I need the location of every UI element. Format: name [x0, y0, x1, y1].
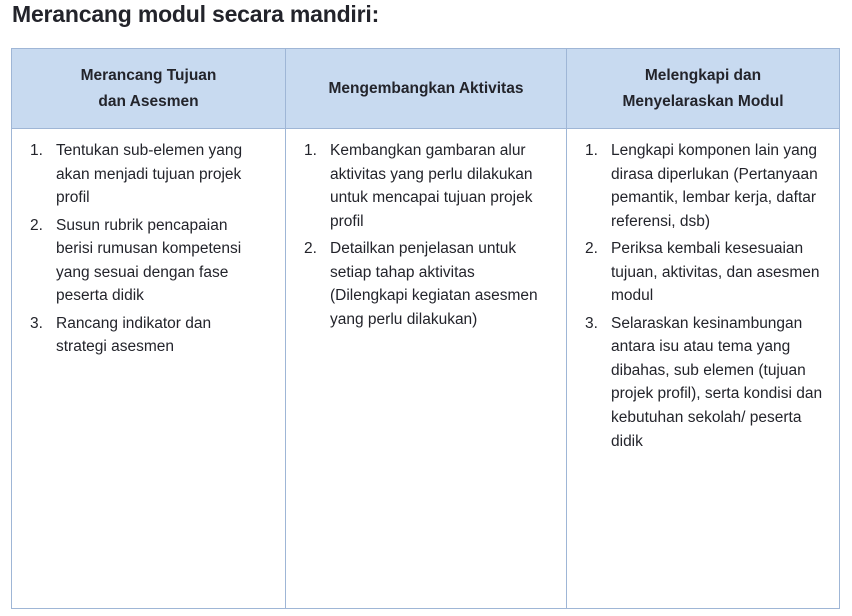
column-header-text: Mengembangkan Aktivitas — [329, 76, 524, 101]
column-header-line: Melengkapi dan — [645, 67, 761, 84]
table-body-row: 1. Tentukan sub-elemen yang akan menjadi… — [12, 129, 839, 608]
numbered-list: 1. Tentukan sub-elemen yang akan menjadi… — [20, 139, 277, 359]
list-item-number: 3. — [20, 312, 56, 336]
list-item-text: Susun rubrik pencapaian berisi rumusan k… — [56, 214, 261, 308]
list-item-text: Kembangkan gambaran alur aktivitas yang … — [330, 139, 542, 233]
list-item-number: 2. — [294, 237, 330, 261]
list-item: 3. Selaraskan kesinambungan antara isu a… — [575, 312, 831, 453]
list-item: 2. Periksa kembali kesesuaian tujuan, ak… — [575, 237, 831, 308]
list-item: 1. Lengkapi komponen lain yang dirasa di… — [575, 139, 831, 233]
table-header-row: Merancang Tujuan dan Asesmen Mengembangk… — [12, 49, 839, 129]
list-item: 1. Kembangkan gambaran alur aktivitas ya… — [294, 139, 558, 233]
column-header-mengembangkan-aktivitas: Mengembangkan Aktivitas — [286, 49, 567, 128]
list-item: 2. Detailkan penjelasan untuk setiap tah… — [294, 237, 558, 331]
table-cell-mengembangkan-aktivitas: 1. Kembangkan gambaran alur aktivitas ya… — [286, 129, 567, 608]
column-header-merancang-tujuan-dan-asesmen: Merancang Tujuan dan Asesmen — [12, 49, 286, 128]
column-header-line: Merancang Tujuan — [81, 67, 217, 84]
numbered-list: 1. Lengkapi komponen lain yang dirasa di… — [575, 139, 831, 453]
list-item-number: 1. — [294, 139, 330, 163]
numbered-list: 1. Kembangkan gambaran alur aktivitas ya… — [294, 139, 558, 331]
column-header-text: Melengkapi dan Menyelaraskan Modul — [622, 63, 783, 113]
list-item-number: 1. — [575, 139, 611, 163]
list-item-text: Lengkapi komponen lain yang dirasa diper… — [611, 139, 831, 233]
column-header-line: dan Asesmen — [98, 93, 198, 110]
slide-canvas: Merancang modul secara mandiri: Merancan… — [0, 0, 852, 616]
list-item-text: Detailkan penjelasan untuk setiap tahap … — [330, 237, 542, 331]
list-item: 1. Tentukan sub-elemen yang akan menjadi… — [20, 139, 277, 210]
list-item-text: Periksa kembali kesesuaian tujuan, aktiv… — [611, 237, 831, 308]
three-column-table: Merancang Tujuan dan Asesmen Mengembangk… — [11, 48, 840, 609]
list-item: 3. Rancang indikator dan strategi asesme… — [20, 312, 277, 359]
table-cell-melengkapi-dan-menyelaraskan-modul: 1. Lengkapi komponen lain yang dirasa di… — [567, 129, 839, 608]
column-header-text: Merancang Tujuan dan Asesmen — [81, 63, 217, 113]
list-item-number: 1. — [20, 139, 56, 163]
column-header-melengkapi-dan-menyelaraskan-modul: Melengkapi dan Menyelaraskan Modul — [567, 49, 839, 128]
list-item: 2. Susun rubrik pencapaian berisi rumusa… — [20, 214, 277, 308]
list-item-number: 2. — [20, 214, 56, 238]
table-cell-merancang-tujuan-dan-asesmen: 1. Tentukan sub-elemen yang akan menjadi… — [12, 129, 286, 608]
column-header-line: Menyelaraskan Modul — [622, 93, 783, 110]
list-item-number: 3. — [575, 312, 611, 336]
list-item-text: Rancang indikator dan strategi asesmen — [56, 312, 261, 359]
list-item-text: Selaraskan kesinambungan antara isu atau… — [611, 312, 831, 453]
list-item-text: Tentukan sub-elemen yang akan menjadi tu… — [56, 139, 261, 210]
list-item-number: 2. — [575, 237, 611, 261]
page-title: Merancang modul secara mandiri: — [12, 1, 379, 28]
